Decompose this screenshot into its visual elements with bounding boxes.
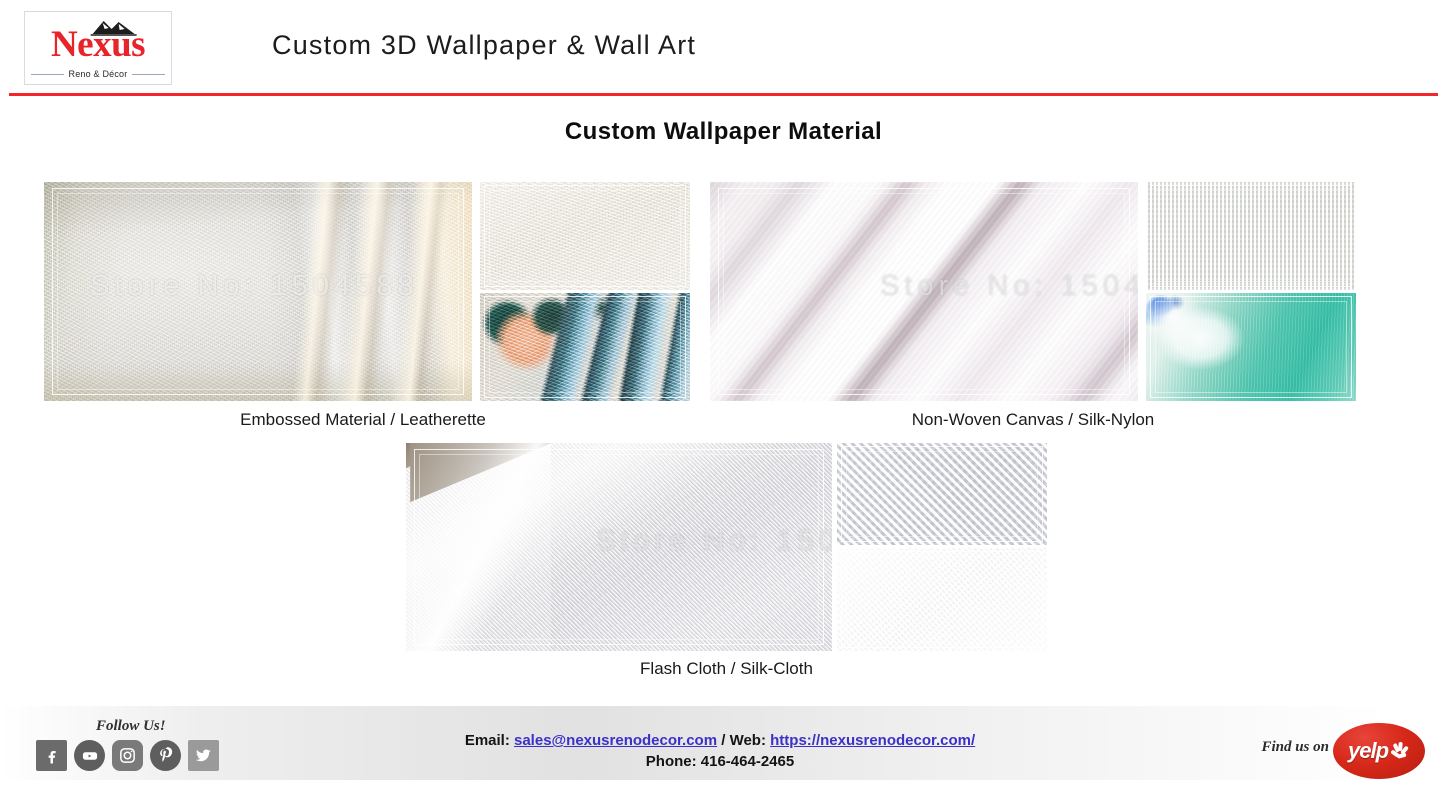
- material-group-flash-cloth: Store No: 1504588 Flash Cloth / Silk-Clo…: [406, 443, 1047, 651]
- material-group-non-woven: Store No: 1504588 Non-Woven Canvas / Sil…: [710, 182, 1356, 401]
- email-label: Email:: [465, 732, 510, 749]
- material-panels: Store No: 1504588: [406, 443, 1047, 651]
- texture-bubble-weave: [837, 443, 1047, 545]
- contact-info: Email: sales@nexusrenodecor.com / Web: h…: [350, 730, 1090, 772]
- brand-logo[interactable]: Nexus Reno & Décor: [24, 11, 172, 85]
- texture-woven-mesh: [1146, 182, 1356, 290]
- page-title: Custom 3D Wallpaper & Wall Art: [272, 30, 696, 61]
- yelp-badge[interactable]: yelp: [1333, 723, 1425, 779]
- youtube-icon[interactable]: [74, 740, 105, 771]
- twitter-icon[interactable]: [188, 740, 219, 771]
- slide-root: Nexus Reno & Décor Custom 3D Wallpaper &…: [0, 0, 1447, 800]
- logo-rule-right: [132, 74, 165, 75]
- section-title: Custom Wallpaper Material: [0, 118, 1447, 146]
- material-sub-images-nonwoven: [1146, 182, 1356, 401]
- material-sub-images-embossed: [480, 182, 690, 401]
- material-image-nonwoven-sub-1[interactable]: [1146, 182, 1356, 290]
- texture-red-streak-mesh: [837, 548, 1047, 651]
- material-image-embossed-main[interactable]: Store No: 1504588: [44, 182, 472, 401]
- social-links: [36, 740, 219, 771]
- website-link[interactable]: https://nexusrenodecor.com/: [770, 732, 975, 749]
- texture-silk-drape: [710, 182, 1138, 401]
- material-sub-images-flashcloth: [837, 443, 1047, 651]
- material-image-embossed-sub-2[interactable]: [480, 293, 690, 401]
- texture-embossed-roll: [44, 182, 472, 401]
- find-us-on-label: Find us on: [1261, 739, 1329, 756]
- material-caption-embossed: Embossed Material / Leatherette: [44, 410, 682, 430]
- email-link[interactable]: sales@nexusrenodecor.com: [514, 732, 717, 749]
- follow-us-label: Follow Us!: [96, 718, 166, 735]
- material-image-flashcloth-sub-2[interactable]: [837, 548, 1047, 651]
- texture-plain-emboss: [480, 182, 690, 290]
- phone-line: Phone: 416-464-2465: [350, 751, 1090, 772]
- yelp-wordmark: yelp: [1348, 738, 1388, 764]
- material-image-nonwoven-sub-2[interactable]: [1146, 293, 1356, 401]
- material-image-flashcloth-sub-1[interactable]: [837, 443, 1047, 545]
- material-image-flashcloth-main[interactable]: Store No: 1504588: [406, 443, 832, 651]
- material-image-nonwoven-main[interactable]: Store No: 1504588: [710, 182, 1138, 401]
- facebook-icon[interactable]: [36, 740, 67, 771]
- material-image-embossed-sub-1[interactable]: [480, 182, 690, 290]
- texture-peacock-print: [480, 293, 690, 401]
- header-divider: [9, 93, 1438, 96]
- page-header: Nexus Reno & Décor Custom 3D Wallpaper &…: [0, 0, 1447, 96]
- material-caption-nonwoven: Non-Woven Canvas / Silk-Nylon: [710, 410, 1356, 430]
- texture-flash-cloth: [406, 443, 832, 651]
- material-caption-flashcloth: Flash Cloth / Silk-Cloth: [406, 659, 1047, 679]
- material-panels: Store No: 1504588: [710, 182, 1356, 401]
- material-panels: Store No: 1504588: [44, 182, 690, 401]
- yelp-burst-icon: [1390, 741, 1410, 761]
- texture-teal-floral: [1146, 293, 1356, 401]
- contact-separator: / Web:: [721, 732, 766, 749]
- material-group-embossed: Store No: 1504588 Embossed Material / Le…: [44, 182, 690, 401]
- logo-wordmark: Nexus: [25, 24, 171, 66]
- logo-tagline: Reno & Décor: [69, 69, 128, 79]
- pinterest-icon[interactable]: [150, 740, 181, 771]
- logo-tagline-row: Reno & Décor: [31, 69, 165, 79]
- instagram-icon[interactable]: [112, 740, 143, 771]
- logo-rule-left: [31, 74, 64, 75]
